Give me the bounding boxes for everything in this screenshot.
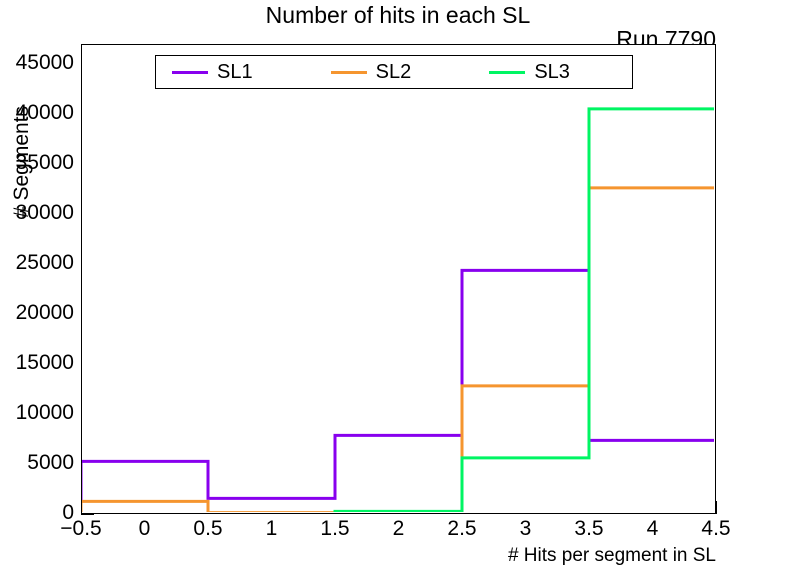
legend-label: SL3 <box>534 62 570 82</box>
x-tick-label: 4 <box>618 517 688 541</box>
x-tick-label: 3.5 <box>554 517 624 541</box>
y-tick-label: 15000 <box>16 351 74 375</box>
y-tick-label: 45000 <box>16 51 74 75</box>
legend-swatch-sl1-icon <box>172 71 208 74</box>
y-tick-label: 40000 <box>16 101 74 125</box>
x-tick-label: 0 <box>110 517 180 541</box>
x-tick-label: 3 <box>491 517 561 541</box>
x-tick-label: 2 <box>364 517 434 541</box>
x-axis-label: # Hits per segment in SL <box>508 545 716 567</box>
plot-frame <box>81 44 716 514</box>
legend-entry-sl1[interactable]: SL1 <box>156 62 315 82</box>
x-tick-label: 1 <box>237 517 307 541</box>
x-tick-label: 1.5 <box>300 517 370 541</box>
chart-canvas: Number of hits in each SL Run 7790 # Seg… <box>0 0 796 572</box>
legend-entry-sl2[interactable]: SL2 <box>315 62 474 82</box>
histogram-series-sl3 <box>82 109 714 512</box>
x-tick-major <box>716 501 717 514</box>
y-tick-major <box>81 514 94 515</box>
x-tick-label: −0.5 <box>46 517 116 541</box>
y-tick-label: 25000 <box>16 251 74 275</box>
plot-area <box>82 45 715 513</box>
histogram-series-sl1 <box>82 270 714 512</box>
x-tick-label: 4.5 <box>681 517 751 541</box>
legend-label: SL1 <box>217 62 253 82</box>
x-tick-label: 0.5 <box>173 517 243 541</box>
legend-swatch-sl2-icon <box>331 71 367 74</box>
legend-swatch-sl3-icon <box>489 71 525 74</box>
x-tick-label: 2.5 <box>427 517 497 541</box>
legend-label: SL2 <box>376 62 412 82</box>
y-tick-label: 35000 <box>16 151 74 175</box>
histogram-lines <box>82 45 714 512</box>
y-tick-label: 20000 <box>16 301 74 325</box>
legend[interactable]: SL1SL2SL3 <box>155 55 633 89</box>
histogram-series-sl2 <box>82 188 714 512</box>
y-tick-label: 5000 <box>27 451 74 475</box>
y-tick-label: 30000 <box>16 201 74 225</box>
page-title: Number of hits in each SL <box>0 2 796 29</box>
y-tick-label: 10000 <box>16 401 74 425</box>
legend-entry-sl3[interactable]: SL3 <box>473 62 632 82</box>
